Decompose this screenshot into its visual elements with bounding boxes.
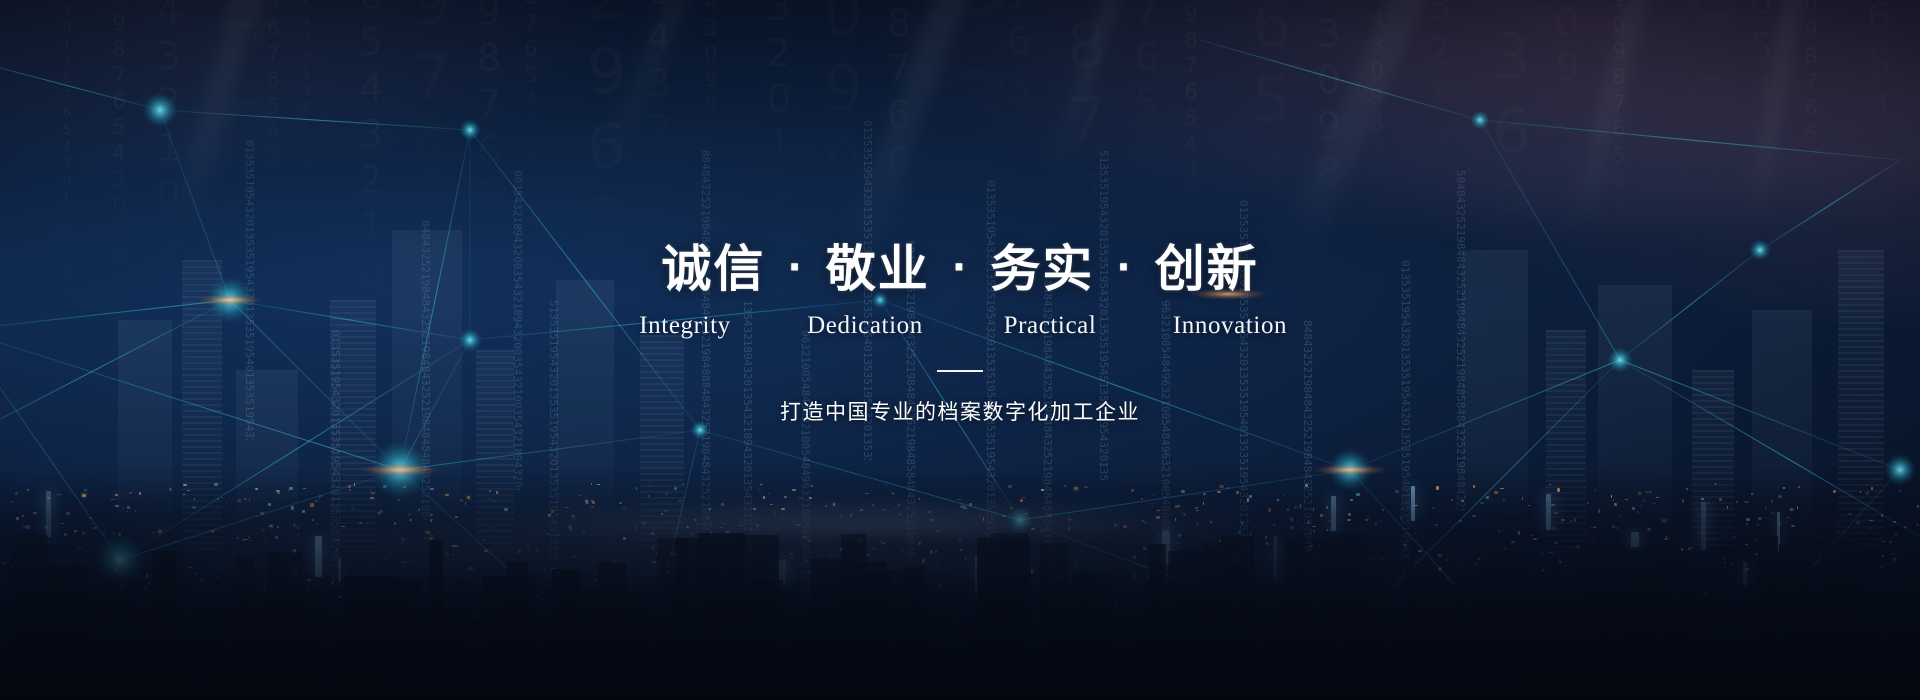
hero-banner: 7430198765430198765430430987654301987665… bbox=[0, 0, 1920, 700]
subline-item-dedication: Dedication bbox=[770, 312, 960, 340]
headline-word-4: 创新 bbox=[1155, 244, 1259, 294]
headline-separator: · bbox=[787, 248, 803, 286]
headline-separator: · bbox=[1116, 248, 1132, 286]
headline-word-2: 敬业 bbox=[826, 244, 930, 294]
banner-content: 诚信 · 敬业 · 务实 · 创新 Integrity Dedication P… bbox=[0, 0, 1920, 700]
subline: Integrity Dedication Practical Innovatio… bbox=[600, 312, 1320, 340]
subline-item-integrity: Integrity bbox=[600, 312, 770, 340]
subline-item-practical: Practical bbox=[960, 312, 1140, 340]
headline-word-3: 务实 bbox=[990, 244, 1094, 294]
tagline: 打造中国专业的档案数字化加工企业 bbox=[780, 396, 1140, 426]
headline-word-1: 诚信 bbox=[661, 244, 765, 294]
headline: 诚信 · 敬业 · 务实 · 创新 bbox=[661, 244, 1258, 294]
divider-rule bbox=[937, 370, 983, 372]
subline-item-innovation: Innovation bbox=[1140, 312, 1320, 340]
headline-separator: · bbox=[952, 248, 968, 286]
